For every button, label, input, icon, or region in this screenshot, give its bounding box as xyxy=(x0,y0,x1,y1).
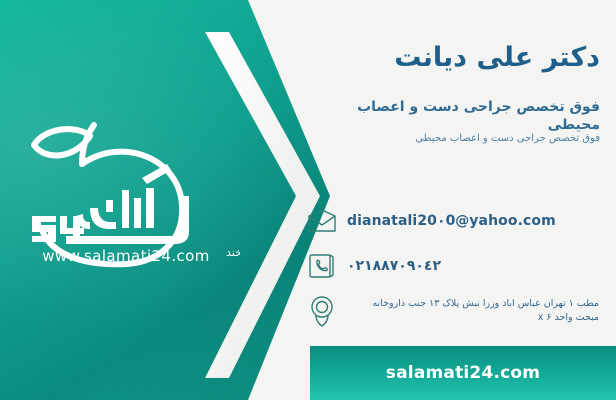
footer-website: salamati24.com xyxy=(386,363,540,383)
email-value[interactable]: dianatali20٠0@yahoo.com xyxy=(347,213,556,229)
phone-book-icon xyxy=(306,250,338,282)
business-card: براحتی یک لبخند www.salamati24.com salam… xyxy=(0,0,616,400)
logo-website-url: www.salamati24.com xyxy=(18,247,234,265)
address-value: مطب ۱ تهران عباس اباد وزرا نبش پلاک ۱۳ ج… xyxy=(347,297,599,326)
card-content: دکتر علی دیانت فوق تخصص جراحی دست و اعصا… xyxy=(300,0,616,400)
contact-row-email: dianatali20٠0@yahoo.com xyxy=(306,205,606,237)
doctor-specialty-secondary: فوق تخصص جراحی دست و اعصاب محیطی xyxy=(314,132,600,145)
contact-row-phone: ٠٢١٨٨٧٠٩٠٤٢ xyxy=(306,250,606,282)
envelope-icon xyxy=(306,205,338,237)
doctor-name: دکتر علی دیانت xyxy=(320,42,600,73)
doctor-specialty: فوق تخصص جراحی دست و اعصاب محیطی xyxy=(314,98,600,134)
location-pin-icon xyxy=(306,295,338,327)
footer-band: salamati24.com xyxy=(310,346,616,400)
contact-row-address: مطب ۱ تهران عباس اباد وزرا نبش پلاک ۱۳ ج… xyxy=(306,295,606,327)
logo-number-24 xyxy=(32,216,84,242)
phone-value[interactable]: ٠٢١٨٨٧٠٩٠٤٢ xyxy=(347,258,441,274)
contact-list: dianatali20٠0@yahoo.com ٠٢١٨٨٧٠٩٠٤٢ xyxy=(306,205,606,340)
